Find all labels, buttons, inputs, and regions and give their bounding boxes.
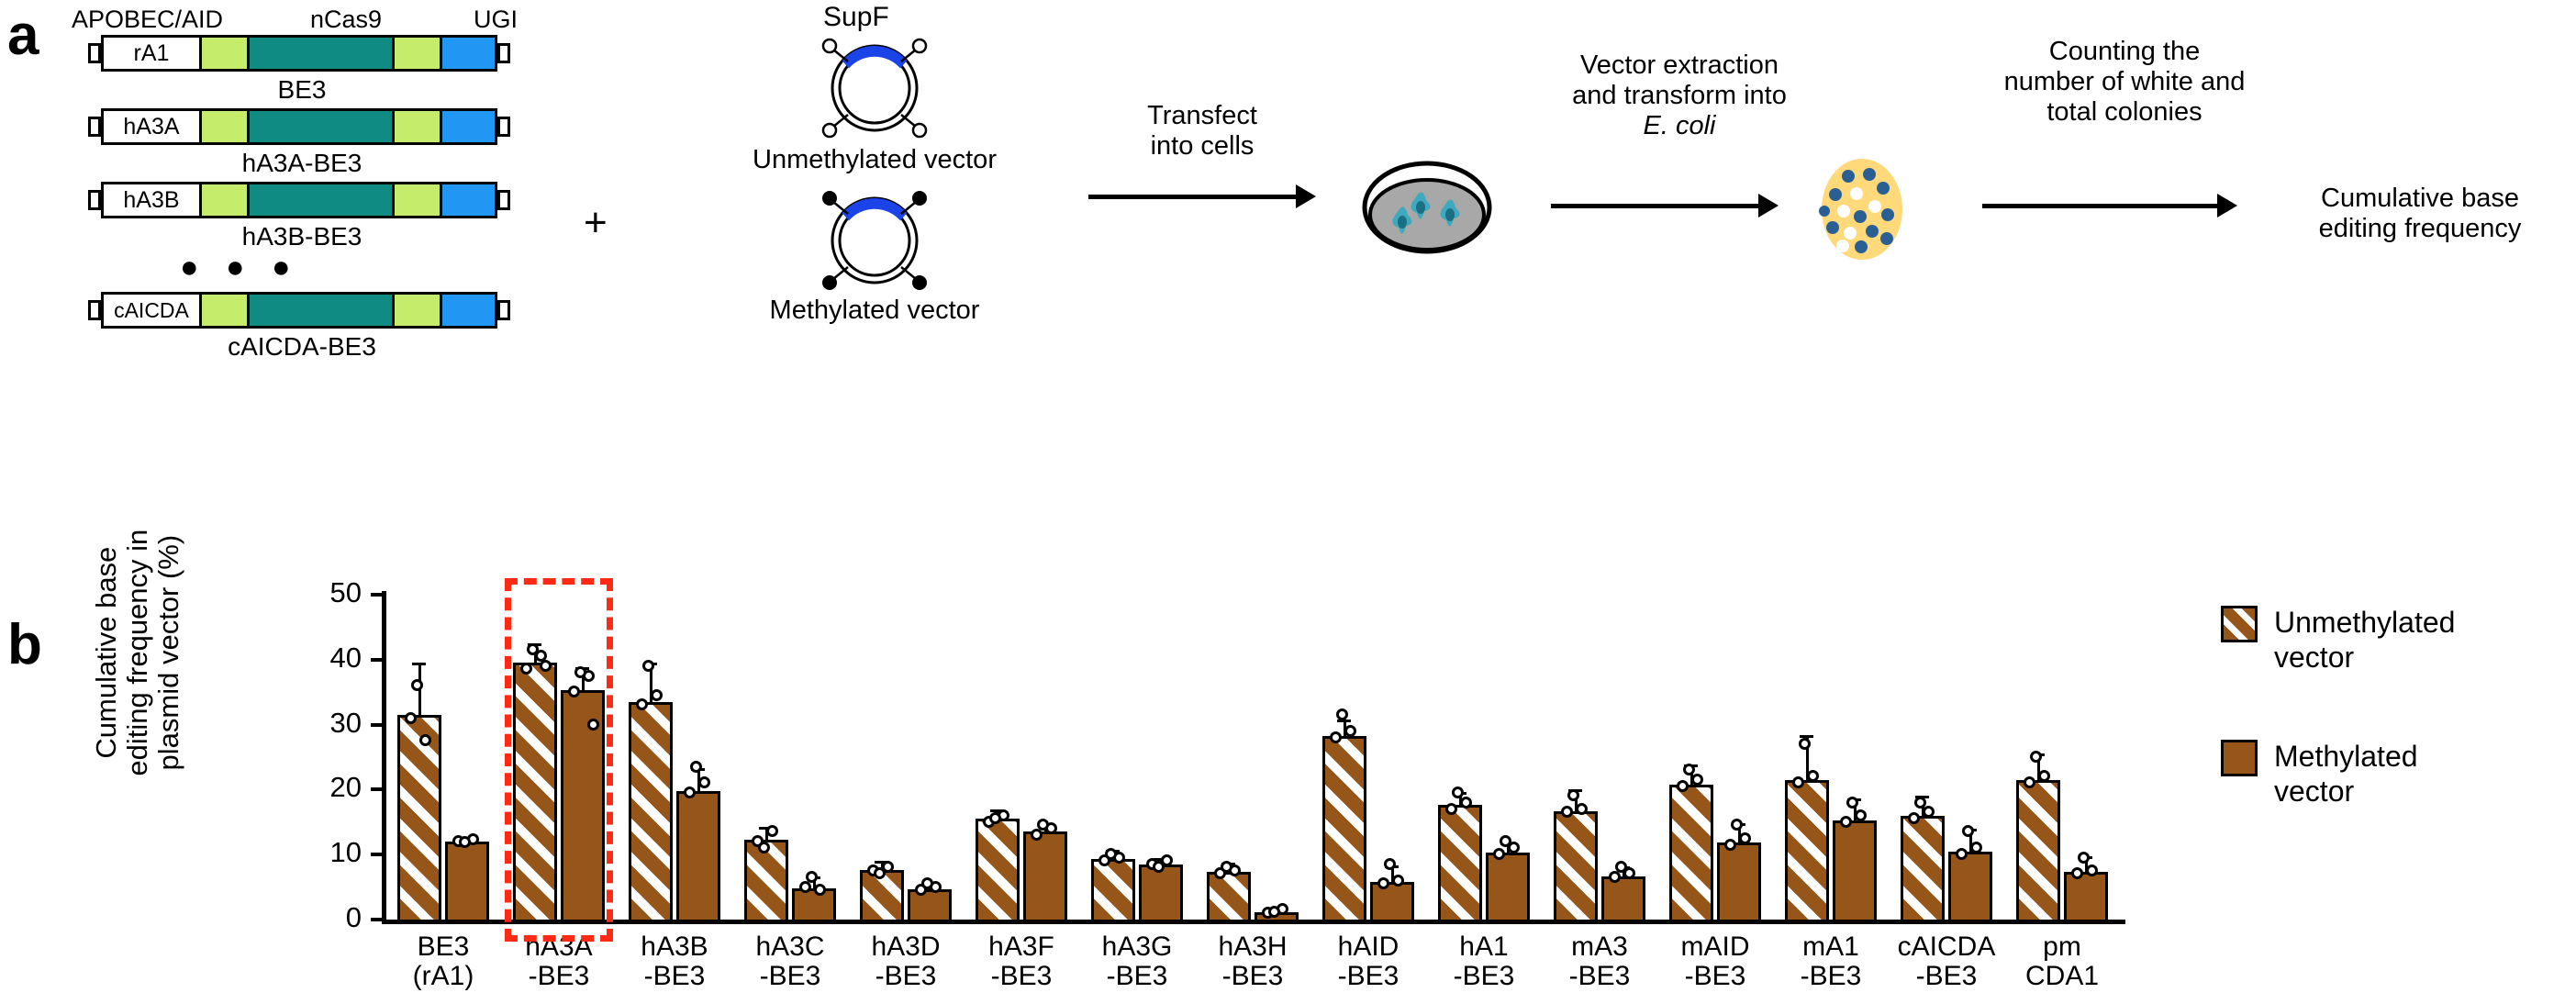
data-point-mA1-1-1 bbox=[1855, 809, 1867, 821]
bar-cAICDA-unmethylated[interactable] bbox=[1901, 816, 1945, 922]
data-point-mA3-0-2 bbox=[1567, 789, 1579, 801]
data-point-mA3-0-1 bbox=[1576, 803, 1588, 815]
data-point-hA3H-1-2 bbox=[1268, 906, 1280, 918]
y-tick-30 bbox=[371, 723, 382, 727]
data-point-cAICDA-1-2 bbox=[1962, 825, 1974, 837]
y-tick-label-40: 40 bbox=[307, 641, 362, 675]
legend-label-line-2: vector bbox=[2274, 775, 2418, 809]
bar-mAID-methylated[interactable] bbox=[1717, 842, 1761, 922]
bar-hA3D-methylated[interactable] bbox=[908, 889, 952, 922]
bar-hA3C-methylated[interactable] bbox=[792, 888, 836, 922]
legend-label-methylated: Methylated vector bbox=[2274, 740, 2418, 809]
data-point-hA1-1-2 bbox=[1500, 835, 1511, 847]
bar-mA3-methylated[interactable] bbox=[1601, 876, 1645, 922]
y-tick-label-30: 30 bbox=[307, 707, 362, 740]
data-point-mA1-0-2 bbox=[1799, 738, 1811, 750]
bar-hAID-unmethylated[interactable] bbox=[1322, 736, 1366, 922]
data-point-cAICDA-0-2 bbox=[1914, 797, 1926, 809]
data-point-hA3B-0-1 bbox=[651, 689, 663, 701]
data-point-hA3B-1-1 bbox=[698, 776, 710, 788]
y-tick-40 bbox=[371, 658, 382, 662]
y-tick-20 bbox=[371, 787, 382, 791]
y-tick-label-20: 20 bbox=[307, 771, 362, 804]
data-point-hA3B-1-0 bbox=[684, 786, 696, 798]
x-label-line-2: CDA1 bbox=[1979, 962, 2145, 991]
y-tick-label-10: 10 bbox=[307, 836, 362, 869]
data-point-mA1-1-2 bbox=[1846, 797, 1858, 809]
data-point-pm-0-2 bbox=[2030, 751, 2042, 763]
bar-hA3H-unmethylated[interactable] bbox=[1207, 872, 1251, 922]
data-point-mA3-1-0 bbox=[1609, 871, 1621, 883]
legend-label-unmethylated: Unmethylated vector bbox=[2274, 606, 2455, 675]
data-point-mAID-1-2 bbox=[1731, 819, 1743, 831]
bar-hA3F-unmethylated[interactable] bbox=[976, 819, 1020, 922]
bar-BE3-unmethylated[interactable] bbox=[397, 715, 441, 922]
x-label-line-1: pm bbox=[1979, 932, 2145, 962]
data-point-hA3D-1-2 bbox=[921, 877, 933, 889]
data-point-hA3C-0-1 bbox=[766, 825, 778, 837]
data-point-hAID-1-2 bbox=[1384, 858, 1396, 870]
data-point-mAID-0-0 bbox=[1677, 780, 1689, 792]
bar-cAICDA-methylated[interactable] bbox=[1948, 852, 1992, 922]
data-point-mAID-1-0 bbox=[1724, 839, 1736, 851]
legend-entry-methylated: Methylated vector bbox=[2221, 740, 2418, 809]
bar-hA3B-unmethylated[interactable] bbox=[629, 702, 673, 922]
data-point-hA3B-1-2 bbox=[690, 761, 702, 773]
bar-mA1-methylated[interactable] bbox=[1833, 820, 1877, 922]
bar-mA3-unmethylated[interactable] bbox=[1554, 811, 1598, 922]
data-point-hAID-1-1 bbox=[1392, 875, 1404, 887]
y-tick-label-50: 50 bbox=[307, 576, 362, 609]
legend-swatch-unmethylated bbox=[2221, 606, 2258, 642]
bar-hA1-methylated[interactable] bbox=[1486, 853, 1530, 922]
legend-swatch-methylated bbox=[2221, 740, 2258, 776]
data-point-hAID-0-0 bbox=[1330, 731, 1342, 743]
data-point-BE3-0-0 bbox=[405, 712, 417, 724]
bar-hAID-methylated[interactable] bbox=[1370, 882, 1414, 922]
y-tick-10 bbox=[371, 853, 382, 856]
data-point-hA3C-1-2 bbox=[806, 871, 818, 883]
bar-BE3-methylated[interactable] bbox=[445, 842, 489, 922]
legend-entry-unmethylated: Unmethylated vector bbox=[2221, 606, 2455, 675]
data-point-hA1-0-0 bbox=[1445, 803, 1457, 815]
y-tick-label-0: 0 bbox=[307, 901, 362, 934]
data-point-hAID-1-0 bbox=[1377, 877, 1389, 889]
data-point-mAID-1-1 bbox=[1739, 832, 1751, 844]
bar-hA3F-methylated[interactable] bbox=[1023, 831, 1067, 922]
bar-pm-unmethylated[interactable] bbox=[2016, 780, 2060, 922]
data-point-mAID-0-1 bbox=[1691, 774, 1703, 786]
data-point-hA3F-1-0 bbox=[1031, 829, 1043, 841]
data-point-hA1-0-1 bbox=[1460, 797, 1472, 809]
data-point-mA1-1-0 bbox=[1840, 816, 1852, 828]
bar-pm-methylated[interactable] bbox=[2064, 872, 2108, 922]
bar-hA1-unmethylated[interactable] bbox=[1438, 805, 1482, 922]
x-axis-label-pm: pmCDA1 bbox=[1979, 932, 2145, 992]
bar-hA3G-methylated[interactable] bbox=[1139, 865, 1183, 922]
data-point-BE3-0-2 bbox=[411, 679, 423, 691]
legend-label-line-1: Methylated bbox=[2274, 740, 2418, 775]
highlight-box-ha3a bbox=[505, 578, 613, 942]
y-axis-line bbox=[382, 591, 386, 923]
data-point-hAID-0-2 bbox=[1336, 708, 1348, 720]
data-point-pm-1-2 bbox=[2078, 852, 2090, 864]
error-cap-BE3-0 bbox=[412, 663, 426, 665]
y-tick-50 bbox=[371, 593, 382, 597]
data-point-hAID-0-1 bbox=[1344, 725, 1356, 737]
data-point-hA1-0-2 bbox=[1452, 786, 1464, 798]
data-point-pm-1-1 bbox=[2086, 865, 2098, 876]
bar-mAID-unmethylated[interactable] bbox=[1669, 785, 1713, 922]
data-point-hA3B-0-2 bbox=[642, 660, 654, 672]
legend-label-line-2: vector bbox=[2274, 641, 2455, 675]
bar-mA1-unmethylated[interactable] bbox=[1785, 780, 1829, 922]
bar-hA3G-unmethylated[interactable] bbox=[1091, 859, 1135, 922]
legend-label-line-1: Unmethylated bbox=[2274, 606, 2455, 641]
bar-hA3B-methylated[interactable] bbox=[676, 791, 720, 922]
bar-chart: 01020304050BE3(rA1)hA3A-BE3hA3B-BE3hA3C-… bbox=[0, 0, 2576, 1004]
y-tick-0 bbox=[371, 918, 382, 921]
